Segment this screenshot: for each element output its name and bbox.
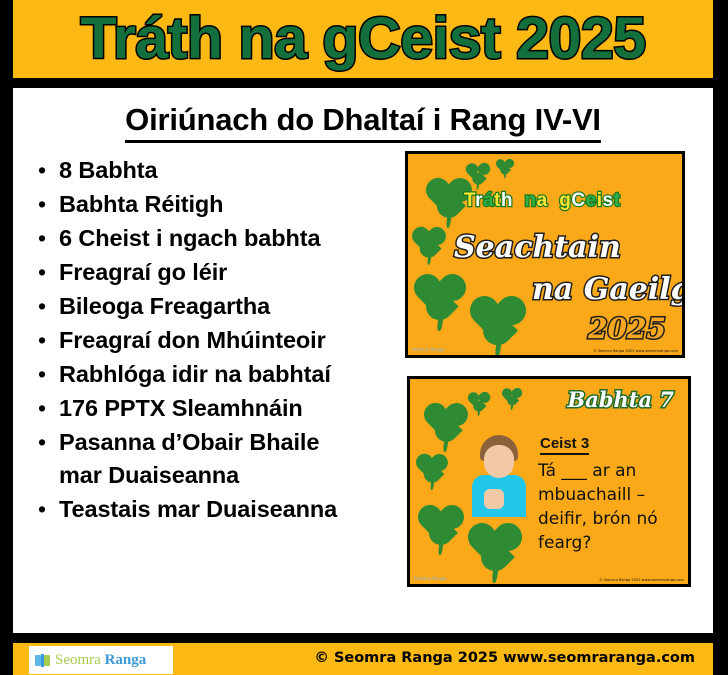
bullet-icon: • [25,324,59,357]
subtitle-wrapper: Oiriúnach do Dhaltaí i Rang IV-VI [13,102,713,143]
feature-list: • 8 Babhta • Babhta Réitigh • 6 Cheist i… [13,150,409,633]
list-item: • Pasanna d’Obair Bhaile mar Duaiseanna [25,426,409,492]
copyright-text: © Seomra Ranga 2025 www.seomraranga.com [314,650,695,666]
bullet-icon: • [25,188,59,221]
shamrock-icon [416,453,448,485]
slide-title-line1: Tráth na gCeist [464,190,620,212]
list-item-label: 176 PPTX Sleamhnáin [59,392,303,425]
slide-title-line2: Seachtain [454,230,621,265]
shamrock-icon [418,503,464,549]
shamrock-icon [468,391,490,413]
list-item-label: 6 Cheist i ngach babhta [59,222,320,255]
list-item-label: Bileoga Freagartha [59,290,270,323]
list-item: • 6 Cheist i ngach babhta [25,222,409,255]
shamrock-icon [414,272,466,324]
preview-images: Tráth na gCeist Seachtain na Gaeilge 202… [409,150,713,633]
shamrock-icon [470,294,526,350]
list-item-label: Pasanna d’Obair Bhaile mar Duaiseanna [59,426,359,492]
list-item: • Freagraí don Mhúinteoir [25,324,409,357]
slide-title-line3: na Gaeilge [532,272,685,307]
list-item: • 176 PPTX Sleamhnáin [25,392,409,425]
slide-title-year: 2025 [588,312,666,345]
brand-word-ranga: Ranga [105,652,147,668]
page-title: Tráth na gCeist 2025 [80,10,645,68]
list-item: • Teastais mar Duaiseanna [25,493,409,526]
preview-thumbnail-question-slide[interactable]: Babhta 7 Ceist 3 Tá ___ ar an mbuachaill… [407,376,691,587]
slide-logo: Seomra Ranga [412,348,444,353]
bullet-icon: • [25,256,59,289]
shamrock-icon [502,387,522,407]
bullet-icon: • [25,290,59,323]
shamrock-icon [412,226,446,260]
list-item: • 8 Babhta [25,154,409,187]
list-item: • Bileoga Freagartha [25,290,409,323]
header-banner: Tráth na gCeist 2025 [13,0,713,78]
shamrock-icon [424,401,468,445]
round-badge: Babhta 7 [567,387,674,412]
list-item-label: Teastais mar Duaiseanna [59,493,337,526]
brand-word-seomra: Seomra [55,652,101,668]
shamrock-icon [466,162,490,186]
list-item-label: 8 Babhta [59,154,157,187]
list-item-label: Freagraí don Mhúinteoir [59,324,326,357]
bullet-icon: • [25,222,59,255]
slide-logo: Seomra Ranga [414,577,446,582]
slide-canvas: Tráth na gCeist Seachtain na Gaeilge 202… [408,154,682,355]
bullet-icon: • [25,358,59,391]
body-columns: • 8 Babhta • Babhta Réitigh • 6 Cheist i… [13,150,713,633]
shamrock-icon [496,158,514,176]
list-item: • Rabhlóga idir na babhtaí [25,358,409,391]
slide-canvas: Babhta 7 Ceist 3 Tá ___ ar an mbuachaill… [410,379,688,584]
list-item-label: Babhta Réitigh [59,188,223,221]
content-sheet: Oiriúnach do Dhaltaí i Rang IV-VI • 8 Ba… [13,88,713,633]
list-item: • Freagraí go léir [25,256,409,289]
slide-credit: © Seomra Ranga 2025 www.seomraranga.com [593,349,678,353]
bullet-icon: • [25,493,59,526]
poster-page: Tráth na gCeist 2025 Oiriúnach do Dhalta… [0,0,728,675]
shamrock-icon [468,521,522,575]
bullet-icon: • [25,392,59,425]
slide-credit: © Seomra Ranga 2025 www.seomraranga.com [599,578,684,582]
bullet-icon: • [25,154,59,187]
preview-thumbnail-title-slide[interactable]: Tráth na gCeist Seachtain na Gaeilge 202… [405,151,685,358]
brand-logo[interactable]: Seomra Ranga [29,646,173,674]
student-photo [468,435,530,517]
list-item: • Babhta Réitigh [25,188,409,221]
brand-logo-text: Seomra Ranga [55,652,146,669]
book-icon [35,654,50,667]
bullet-icon: • [25,426,59,459]
fist [484,489,504,509]
footer-banner: Seomra Ranga © Seomra Ranga 2025 www.seo… [13,643,713,675]
question-label: Ceist 3 [540,435,589,455]
list-item-label: Freagraí go léir [59,256,227,289]
face [484,445,514,478]
question-text: Tá ___ ar an mbuachaill – deifir, brón n… [538,459,690,555]
subtitle-heading: Oiriúnach do Dhaltaí i Rang IV-VI [125,102,601,143]
list-item-label: Rabhlóga idir na babhtaí [59,358,331,391]
